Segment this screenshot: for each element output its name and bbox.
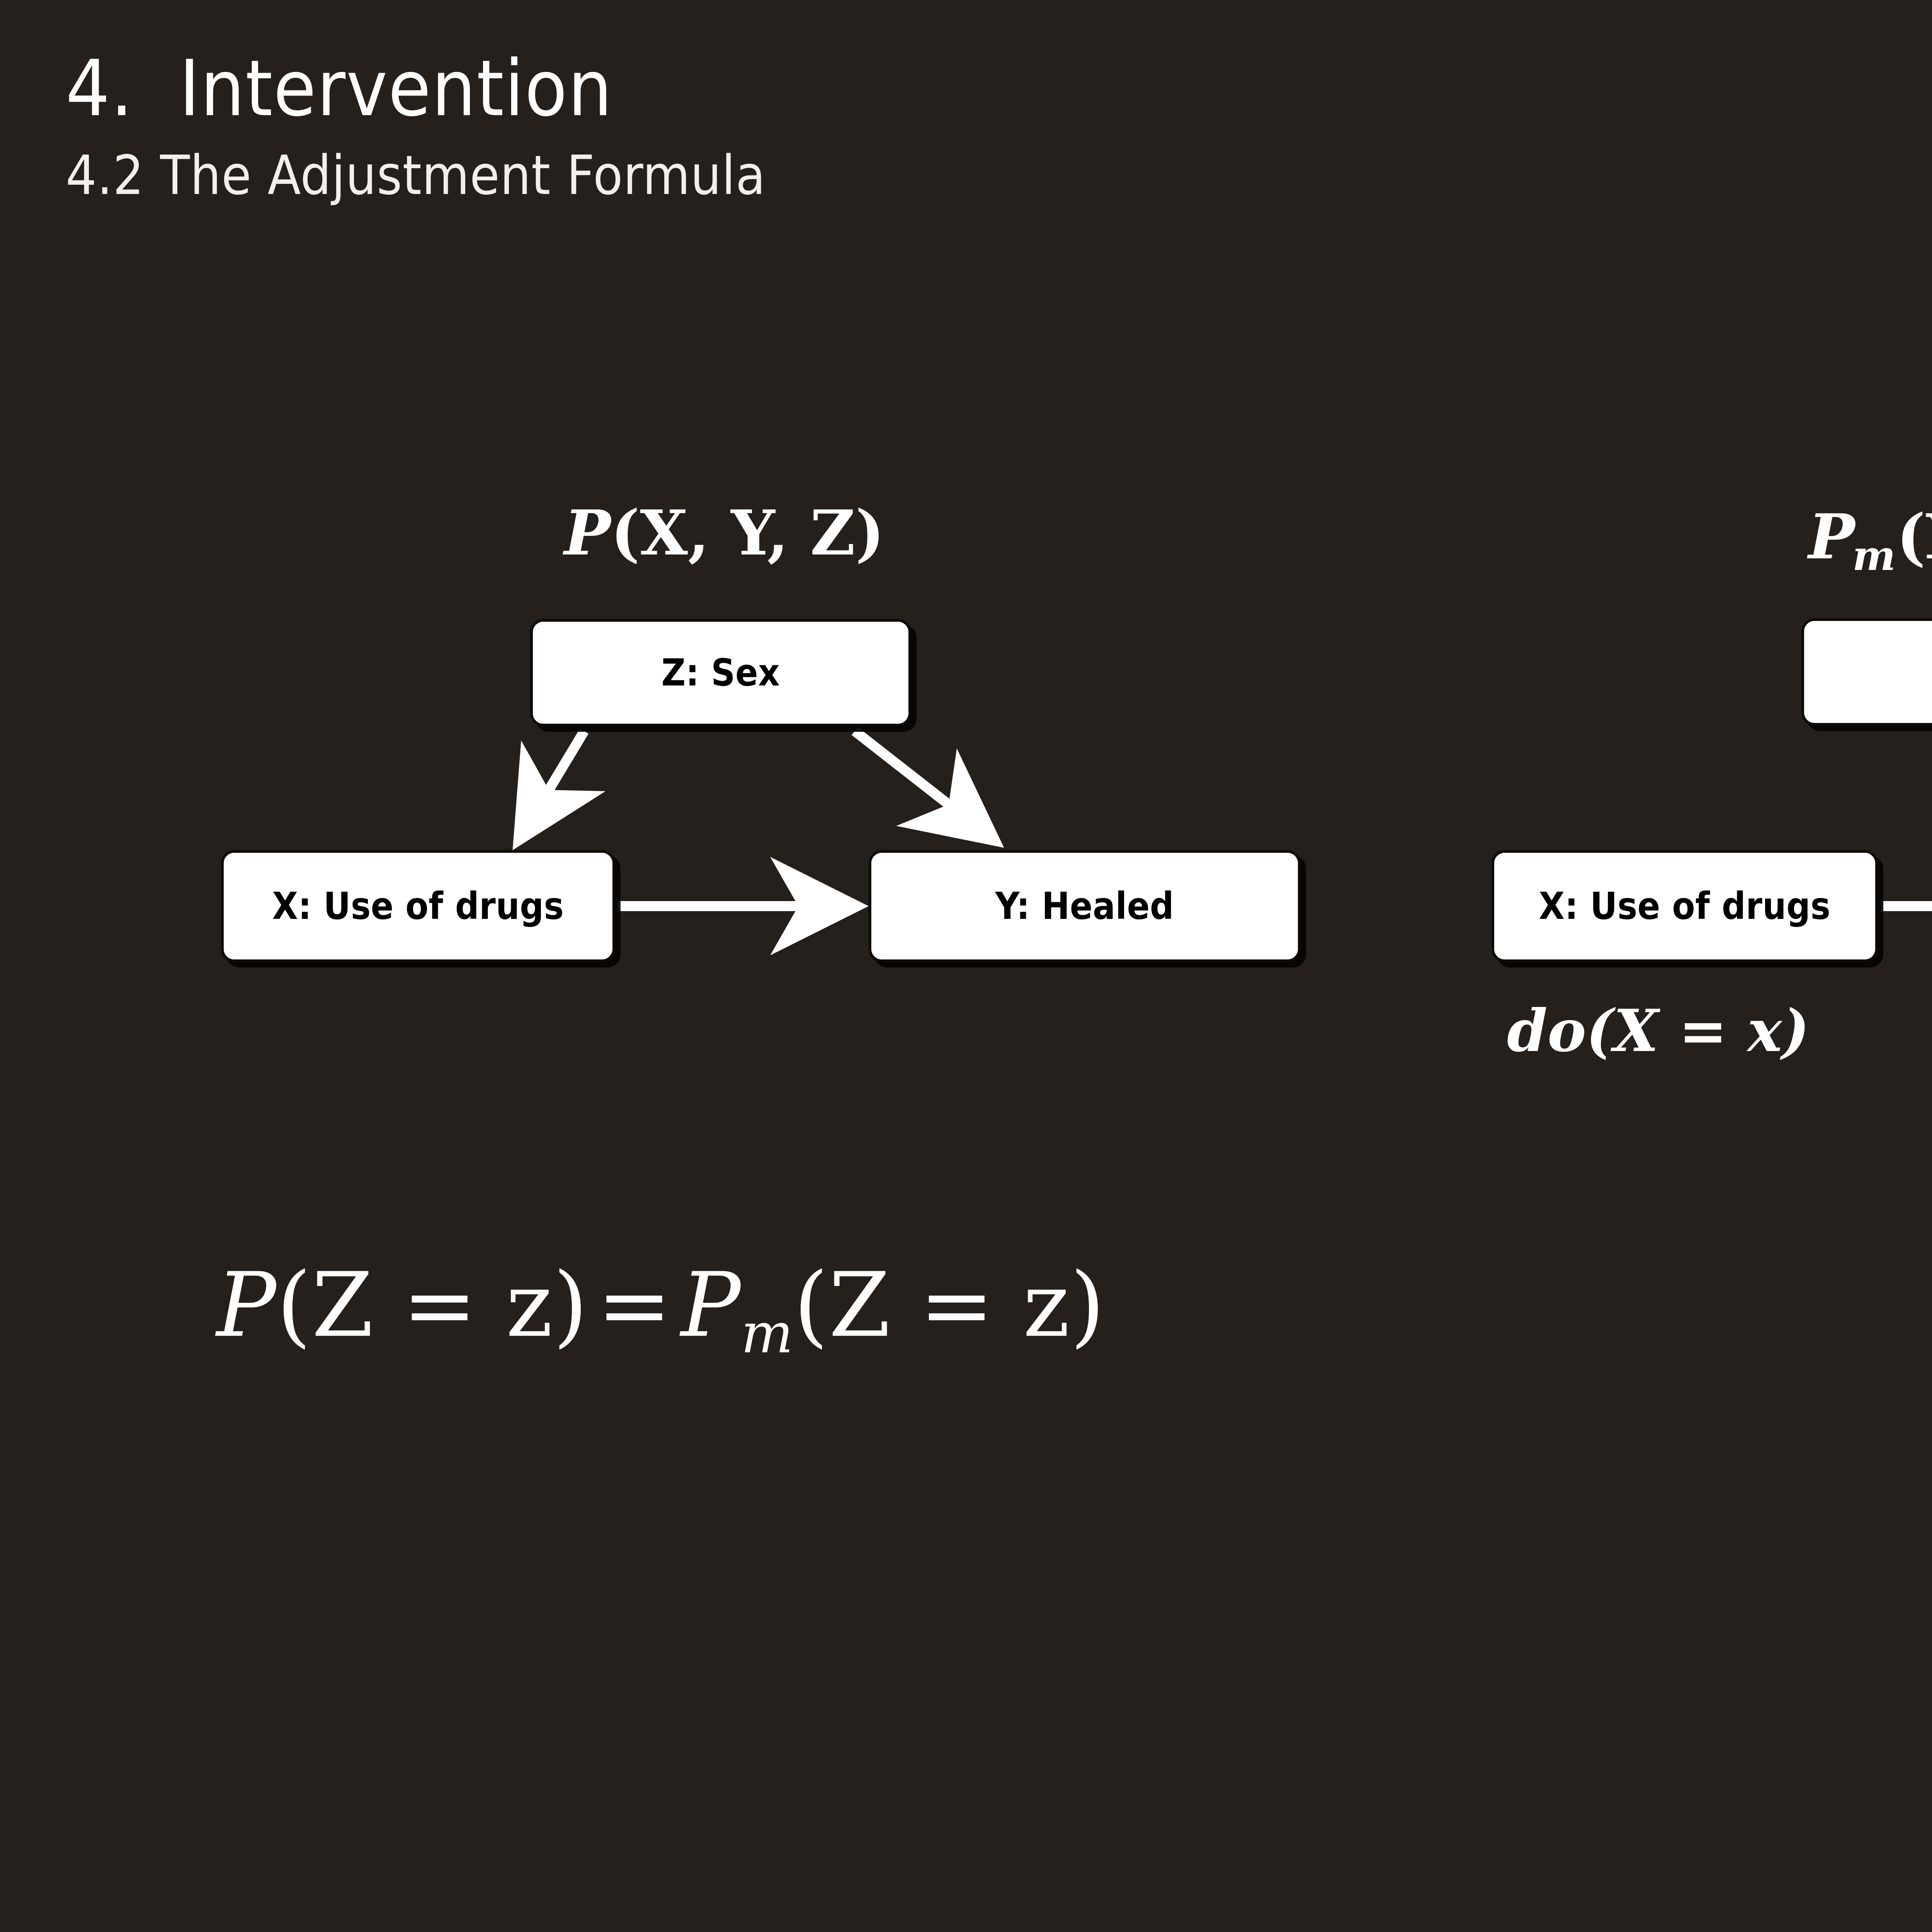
- node-label: X: Use of drugs: [272, 884, 564, 928]
- caption-args: (X, Y, Z): [611, 497, 884, 569]
- caption-p-observational: P(X, Y, Z): [564, 497, 884, 569]
- page-title: 4. Intervention: [66, 50, 1932, 128]
- edge-z-to-x-left: [518, 731, 584, 842]
- node-label: Y: Healed: [995, 884, 1174, 928]
- equation-rhs-base: P: [681, 1254, 741, 1357]
- display-equation: P(Z = z)=Pm(Z = z): [216, 1254, 1105, 1366]
- presentation-slide: 4. Intervention 4.2 The Adjustment Formu…: [0, 0, 1932, 1932]
- node-z-sex-left: Z: Sex: [530, 619, 911, 726]
- diagram-arrows: [0, 0, 1932, 1932]
- edge-z-to-y-left: [855, 731, 996, 842]
- node-label: Z: Sex: [662, 651, 780, 694]
- equation-rhs-subscript: m: [741, 1301, 794, 1366]
- equation-relation: =: [588, 1254, 681, 1357]
- caption-pm-interventional: Pm(X, Y, Z): [1808, 500, 1932, 580]
- caption-subscript: m: [1852, 532, 1896, 580]
- caption-base: P: [1808, 500, 1855, 573]
- page-subtitle: 4.2 The Adjustment Formula: [66, 149, 1932, 203]
- equation-rhs-body: (Z = z): [794, 1254, 1105, 1357]
- node-z-sex-right: Z: Sex: [1801, 618, 1932, 726]
- do-operator-label: do(X = x): [1507, 997, 1810, 1065]
- slide-header: 4. Intervention 4.2 The Adjustment Formu…: [66, 50, 1932, 203]
- equation-lhs-body: (Z = z): [277, 1254, 588, 1357]
- equation-lhs-base: P: [216, 1254, 277, 1357]
- node-y-healed-left: Y: Healed: [869, 850, 1301, 962]
- caption-base: P: [564, 497, 611, 569]
- node-label: X: Use of drugs: [1539, 884, 1830, 928]
- node-x-use-of-drugs-left: X: Use of drugs: [221, 850, 615, 962]
- caption-args: (X, Y, Z): [1896, 500, 1932, 573]
- node-x-use-of-drugs-right: X: Use of drugs: [1492, 850, 1878, 962]
